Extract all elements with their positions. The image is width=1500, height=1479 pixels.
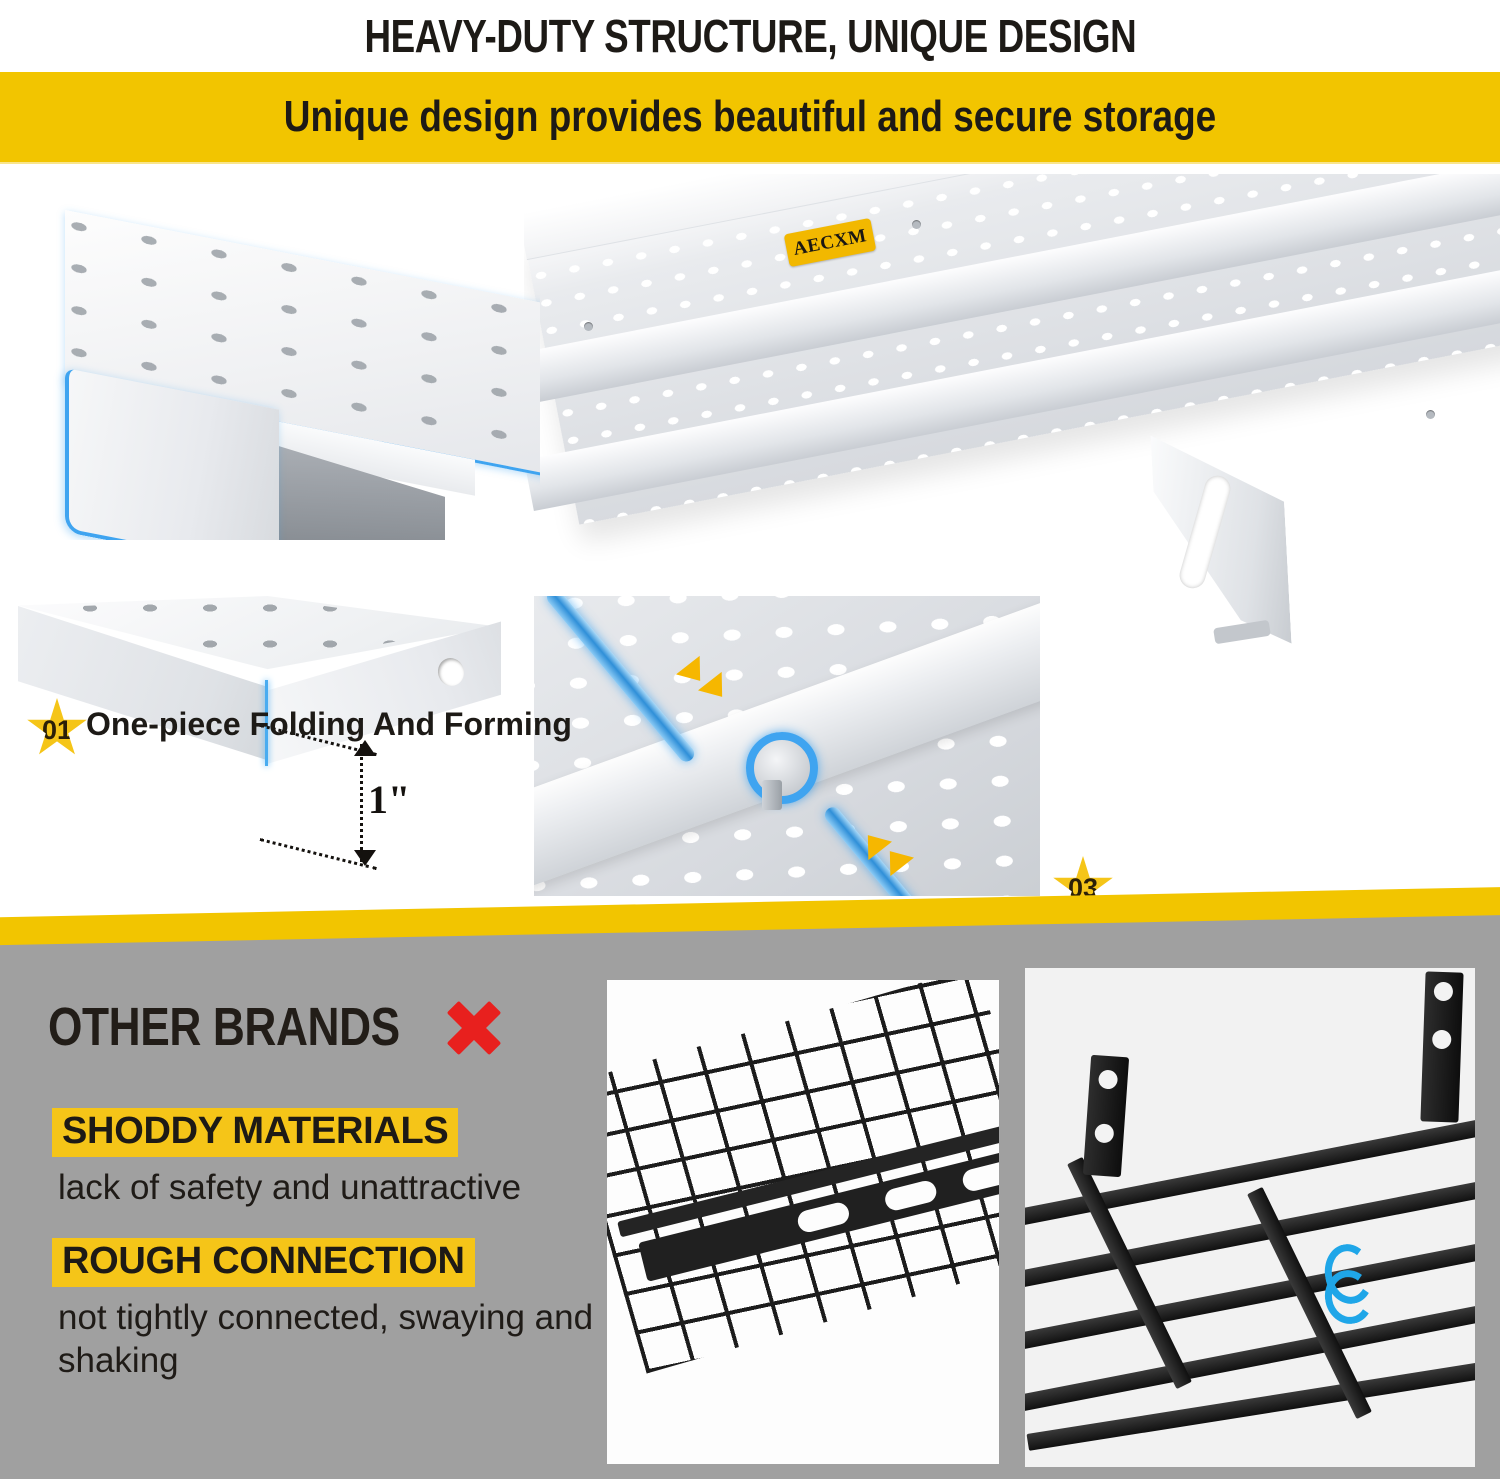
product-infographic: HEAVY-DUTY STRUCTURE, UNIQUE DESIGN Uniq…: [0, 0, 1500, 1479]
rack-front-bar: [1027, 1362, 1475, 1451]
comparison-item-1-detail: lack of safety and unattractive: [58, 1167, 521, 1210]
other-brand-rack-image: [1025, 968, 1475, 1467]
other-brand-mesh-image: [607, 980, 999, 1464]
bracket-hole: [1094, 1123, 1114, 1143]
support-bar-cutout: [960, 1159, 999, 1193]
page-title: HEAVY-DUTY STRUCTURE, UNIQUE DESIGN: [364, 9, 1136, 63]
washer-highlight: [746, 732, 818, 804]
dimension-arrow: [360, 744, 367, 862]
red-x-icon: [437, 990, 511, 1064]
comparison-title: OTHER BRANDS: [48, 996, 400, 1058]
support-bar-cutout: [883, 1179, 939, 1213]
bolt-icon: [762, 780, 782, 810]
comparison-item-2-detail: not tightly connected, swaying and shaki…: [58, 1297, 618, 1382]
wall-bracket: [1083, 1055, 1129, 1177]
comparison-item-1-heading: SHODDY MATERIALS: [52, 1108, 458, 1157]
screw-icon: [912, 220, 921, 229]
feature-01-label: One-piece Folding And Forming: [86, 706, 572, 743]
header-title-bar: HEAVY-DUTY STRUCTURE, UNIQUE DESIGN: [0, 0, 1500, 72]
bracket-hole: [1434, 982, 1454, 1002]
header-subtitle-band: Unique design provides beautiful and sec…: [0, 72, 1500, 162]
dimension-label: 1": [368, 776, 410, 823]
comparison-item-2-heading: ROUGH CONNECTION: [52, 1238, 475, 1287]
comparison-section: OTHER BRANDS SHODDY MATERIALS lack of sa…: [0, 968, 1500, 1479]
screw-icon: [1426, 410, 1435, 419]
bracket-hole: [1098, 1069, 1118, 1089]
bracket-hole: [1432, 1030, 1452, 1050]
features-section: AECXM: [0, 164, 1500, 920]
page-subtitle: Unique design provides beautiful and sec…: [284, 92, 1216, 142]
comparison-heading: OTHER BRANDS: [48, 990, 511, 1064]
feature-03-image: [534, 596, 1040, 896]
bracket-foot: [1213, 620, 1271, 645]
screw-icon: [584, 322, 593, 331]
flat-bar-rack: [1025, 968, 1475, 1467]
feature-01-image: [20, 200, 540, 540]
comparison-item-1: SHODDY MATERIALS lack of safety and unat…: [52, 1108, 521, 1210]
comparison-item-2: ROUGH CONNECTION not tightly connected, …: [52, 1238, 618, 1382]
shelf-support-bracket: [1150, 429, 1291, 651]
support-bar-cutout: [796, 1200, 852, 1234]
wall-bracket: [1420, 971, 1463, 1122]
